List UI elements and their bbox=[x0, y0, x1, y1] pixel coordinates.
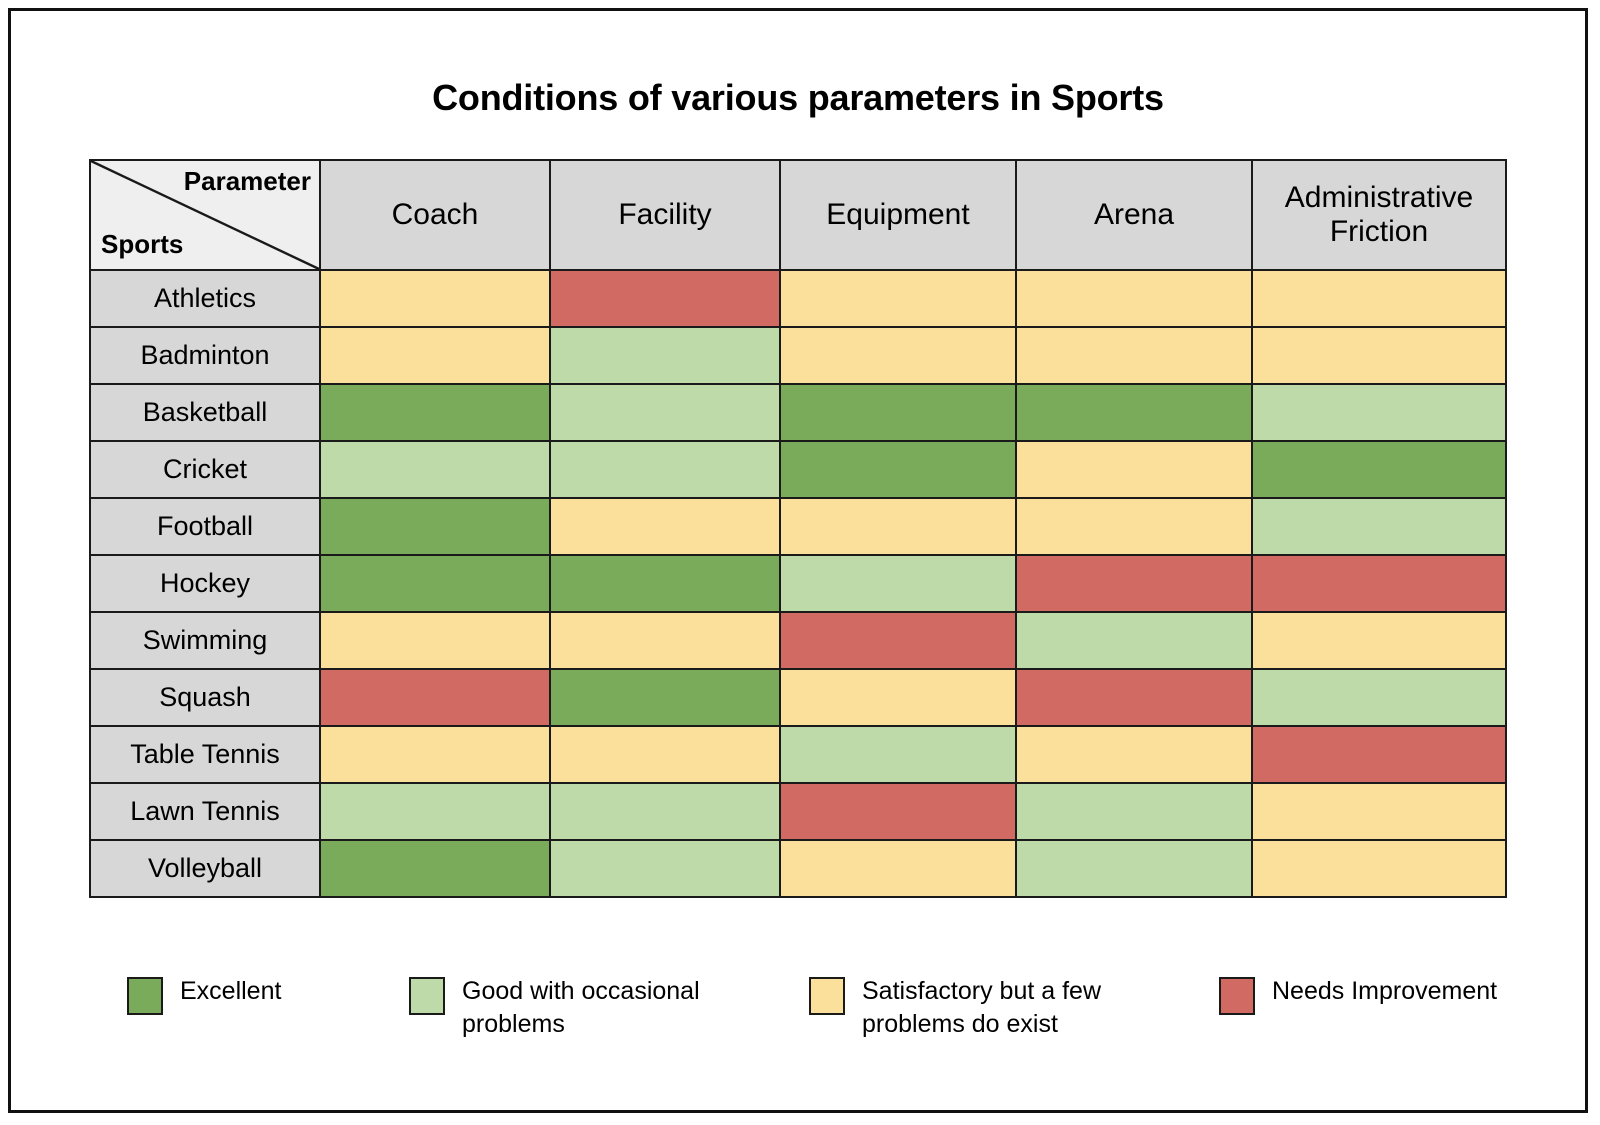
cell-cricket-facility bbox=[550, 441, 780, 498]
cell-football-facility bbox=[550, 498, 780, 555]
cell-athletics-facility bbox=[550, 270, 780, 327]
conditions-matrix-table: Parameter Sports Coach Facility Equipmen… bbox=[89, 159, 1507, 898]
cell-table-tennis-coach bbox=[320, 726, 550, 783]
table-row: Basketball bbox=[90, 384, 1506, 441]
cell-table-tennis-arena bbox=[1016, 726, 1252, 783]
cell-lawn-tennis-facility bbox=[550, 783, 780, 840]
row-header-cricket: Cricket bbox=[90, 441, 320, 498]
column-axis-label: Parameter bbox=[184, 167, 311, 196]
row-header-swimming: Swimming bbox=[90, 612, 320, 669]
legend-swatch-needs-improvement bbox=[1219, 977, 1255, 1015]
table-body: AthleticsBadmintonBasketballCricketFootb… bbox=[90, 270, 1506, 897]
cell-table-tennis-facility bbox=[550, 726, 780, 783]
cell-basketball-coach bbox=[320, 384, 550, 441]
legend-label-needs-improvement: Needs Improvement bbox=[1272, 975, 1497, 1008]
cell-lawn-tennis-administrative-friction bbox=[1252, 783, 1506, 840]
cell-athletics-administrative-friction bbox=[1252, 270, 1506, 327]
column-header-arena: Arena bbox=[1016, 160, 1252, 270]
row-header-volleyball: Volleyball bbox=[90, 840, 320, 897]
cell-squash-equipment bbox=[780, 669, 1016, 726]
cell-hockey-administrative-friction bbox=[1252, 555, 1506, 612]
cell-hockey-coach bbox=[320, 555, 550, 612]
legend-swatch-good bbox=[409, 977, 445, 1015]
cell-squash-administrative-friction bbox=[1252, 669, 1506, 726]
cell-squash-arena bbox=[1016, 669, 1252, 726]
cell-cricket-arena bbox=[1016, 441, 1252, 498]
figure-canvas: Conditions of various parameters in Spor… bbox=[8, 8, 1588, 1113]
legend: Excellent Good with occasional problems … bbox=[121, 963, 1501, 1073]
cell-lawn-tennis-coach bbox=[320, 783, 550, 840]
legend-swatch-satisfactory bbox=[809, 977, 845, 1015]
table-row: Badminton bbox=[90, 327, 1506, 384]
cell-squash-coach bbox=[320, 669, 550, 726]
cell-badminton-administrative-friction bbox=[1252, 327, 1506, 384]
row-header-table-tennis: Table Tennis bbox=[90, 726, 320, 783]
table-row: Table Tennis bbox=[90, 726, 1506, 783]
row-header-squash: Squash bbox=[90, 669, 320, 726]
column-header-administrative-friction: Administrative Friction bbox=[1252, 160, 1506, 270]
cell-athletics-equipment bbox=[780, 270, 1016, 327]
cell-volleyball-administrative-friction bbox=[1252, 840, 1506, 897]
legend-label-excellent: Excellent bbox=[180, 975, 281, 1008]
row-header-hockey: Hockey bbox=[90, 555, 320, 612]
header-row: Parameter Sports Coach Facility Equipmen… bbox=[90, 160, 1506, 270]
cell-cricket-equipment bbox=[780, 441, 1016, 498]
cell-basketball-administrative-friction bbox=[1252, 384, 1506, 441]
cell-swimming-arena bbox=[1016, 612, 1252, 669]
cell-hockey-equipment bbox=[780, 555, 1016, 612]
cell-swimming-facility bbox=[550, 612, 780, 669]
cell-badminton-coach bbox=[320, 327, 550, 384]
cell-football-administrative-friction bbox=[1252, 498, 1506, 555]
legend-item-good: Good with occasional problems bbox=[409, 975, 742, 1041]
table-row: Squash bbox=[90, 669, 1506, 726]
corner-axis-cell: Parameter Sports bbox=[90, 160, 320, 270]
row-header-athletics: Athletics bbox=[90, 270, 320, 327]
legend-swatch-excellent bbox=[127, 977, 163, 1015]
cell-table-tennis-equipment bbox=[780, 726, 1016, 783]
cell-volleyball-equipment bbox=[780, 840, 1016, 897]
table-header: Parameter Sports Coach Facility Equipmen… bbox=[90, 160, 1506, 270]
row-header-badminton: Badminton bbox=[90, 327, 320, 384]
cell-cricket-coach bbox=[320, 441, 550, 498]
table-row: Lawn Tennis bbox=[90, 783, 1506, 840]
cell-squash-facility bbox=[550, 669, 780, 726]
legend-label-satisfactory: Satisfactory but a few problems do exist bbox=[862, 975, 1142, 1041]
table-row: Cricket bbox=[90, 441, 1506, 498]
cell-football-arena bbox=[1016, 498, 1252, 555]
cell-football-equipment bbox=[780, 498, 1016, 555]
table-row: Volleyball bbox=[90, 840, 1506, 897]
cell-volleyball-facility bbox=[550, 840, 780, 897]
table-row: Hockey bbox=[90, 555, 1506, 612]
cell-hockey-arena bbox=[1016, 555, 1252, 612]
row-axis-label: Sports bbox=[101, 230, 183, 259]
cell-lawn-tennis-equipment bbox=[780, 783, 1016, 840]
legend-label-good: Good with occasional problems bbox=[462, 975, 742, 1041]
cell-swimming-coach bbox=[320, 612, 550, 669]
cell-athletics-coach bbox=[320, 270, 550, 327]
row-header-football: Football bbox=[90, 498, 320, 555]
table-row: Swimming bbox=[90, 612, 1506, 669]
cell-swimming-equipment bbox=[780, 612, 1016, 669]
column-header-facility: Facility bbox=[550, 160, 780, 270]
column-header-equipment: Equipment bbox=[780, 160, 1016, 270]
legend-item-satisfactory: Satisfactory but a few problems do exist bbox=[809, 975, 1142, 1041]
cell-badminton-equipment bbox=[780, 327, 1016, 384]
cell-football-coach bbox=[320, 498, 550, 555]
cell-table-tennis-administrative-friction bbox=[1252, 726, 1506, 783]
cell-swimming-administrative-friction bbox=[1252, 612, 1506, 669]
table-row: Athletics bbox=[90, 270, 1506, 327]
cell-hockey-facility bbox=[550, 555, 780, 612]
page-title: Conditions of various parameters in Spor… bbox=[11, 77, 1585, 119]
cell-basketball-facility bbox=[550, 384, 780, 441]
cell-lawn-tennis-arena bbox=[1016, 783, 1252, 840]
cell-badminton-arena bbox=[1016, 327, 1252, 384]
legend-item-needs-improvement: Needs Improvement bbox=[1219, 975, 1497, 1015]
cell-basketball-equipment bbox=[780, 384, 1016, 441]
row-header-lawn-tennis: Lawn Tennis bbox=[90, 783, 320, 840]
cell-volleyball-arena bbox=[1016, 840, 1252, 897]
cell-badminton-facility bbox=[550, 327, 780, 384]
cell-athletics-arena bbox=[1016, 270, 1252, 327]
row-header-basketball: Basketball bbox=[90, 384, 320, 441]
cell-basketball-arena bbox=[1016, 384, 1252, 441]
cell-cricket-administrative-friction bbox=[1252, 441, 1506, 498]
column-header-coach: Coach bbox=[320, 160, 550, 270]
legend-item-excellent: Excellent bbox=[127, 975, 281, 1015]
table-row: Football bbox=[90, 498, 1506, 555]
cell-volleyball-coach bbox=[320, 840, 550, 897]
